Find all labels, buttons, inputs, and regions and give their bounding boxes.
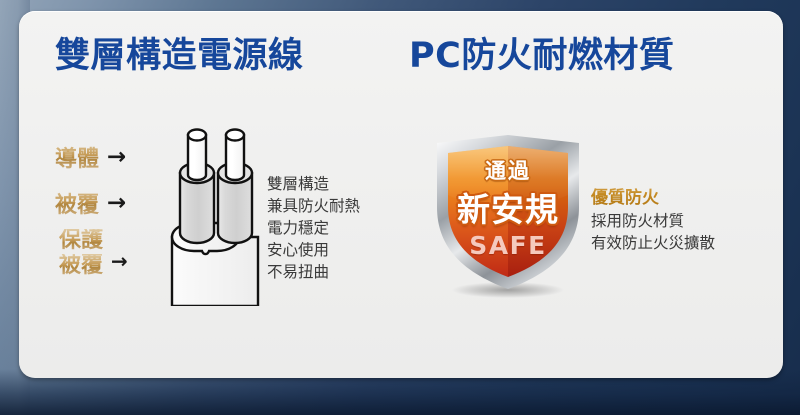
feature-item: 兼具防火耐熱 [267, 195, 360, 217]
callout-label-line2: 被覆 [59, 254, 103, 279]
badge-top-text: 通過 [429, 155, 587, 185]
callout-protective-sheath: 保護 被覆 → [59, 229, 128, 278]
arrow-right-icon: → [111, 251, 128, 271]
feature-item: 不易扭曲 [267, 261, 360, 283]
arrow-right-icon: → [107, 192, 126, 215]
left-feature-list: 雙層構造 兼具防火耐熱 電力穩定 安心使用 不易扭曲 [267, 173, 360, 283]
callout-label-line1: 保護 [59, 229, 103, 254]
feature-item: 電力穩定 [267, 217, 360, 239]
arrow-right-icon: → [107, 146, 126, 169]
feature-item: 雙層構造 [267, 173, 360, 195]
feature-item: 有效防止火災擴散 [591, 232, 715, 254]
safety-shield-badge: 通過 新安規 SAFE [429, 133, 587, 298]
feature-item: 安心使用 [267, 239, 360, 261]
right-feature-list: 優質防火 採用防火材質 有效防止火災擴散 [591, 183, 715, 254]
page-title-left: 雙層構造電源線 [55, 27, 304, 78]
feature-item: 採用防火材質 [591, 210, 715, 232]
badge-main-text: 新安規 [429, 183, 587, 231]
left-feature-block: 導體 → 被覆 → 保護 被覆 → [19, 121, 399, 321]
callout-sheath: 被覆 → [55, 187, 126, 219]
callout-label-protective-sheath: 保護 被覆 [59, 229, 103, 278]
cable-cross-section-illustration [162, 121, 277, 306]
callout-conductor: 導體 → [55, 141, 126, 173]
page-title-right: PC防火耐燃材質 [409, 27, 674, 78]
content-panel: 雙層構造電源線 PC防火耐燃材質 導體 → 被覆 → 保護 被覆 → [19, 11, 783, 378]
badge-bottom-text: SAFE [429, 231, 587, 260]
callout-label-conductor: 導體 [55, 141, 99, 173]
right-feature-heading: 優質防火 [591, 183, 715, 208]
right-feature-block: 通過 新安規 SAFE 優質防火 採用防火材質 有效防止火災擴散 [409, 121, 783, 321]
slide-root: 雙層構造電源線 PC防火耐燃材質 導體 → 被覆 → 保護 被覆 → [0, 0, 800, 415]
callout-label-sheath: 被覆 [55, 187, 99, 219]
